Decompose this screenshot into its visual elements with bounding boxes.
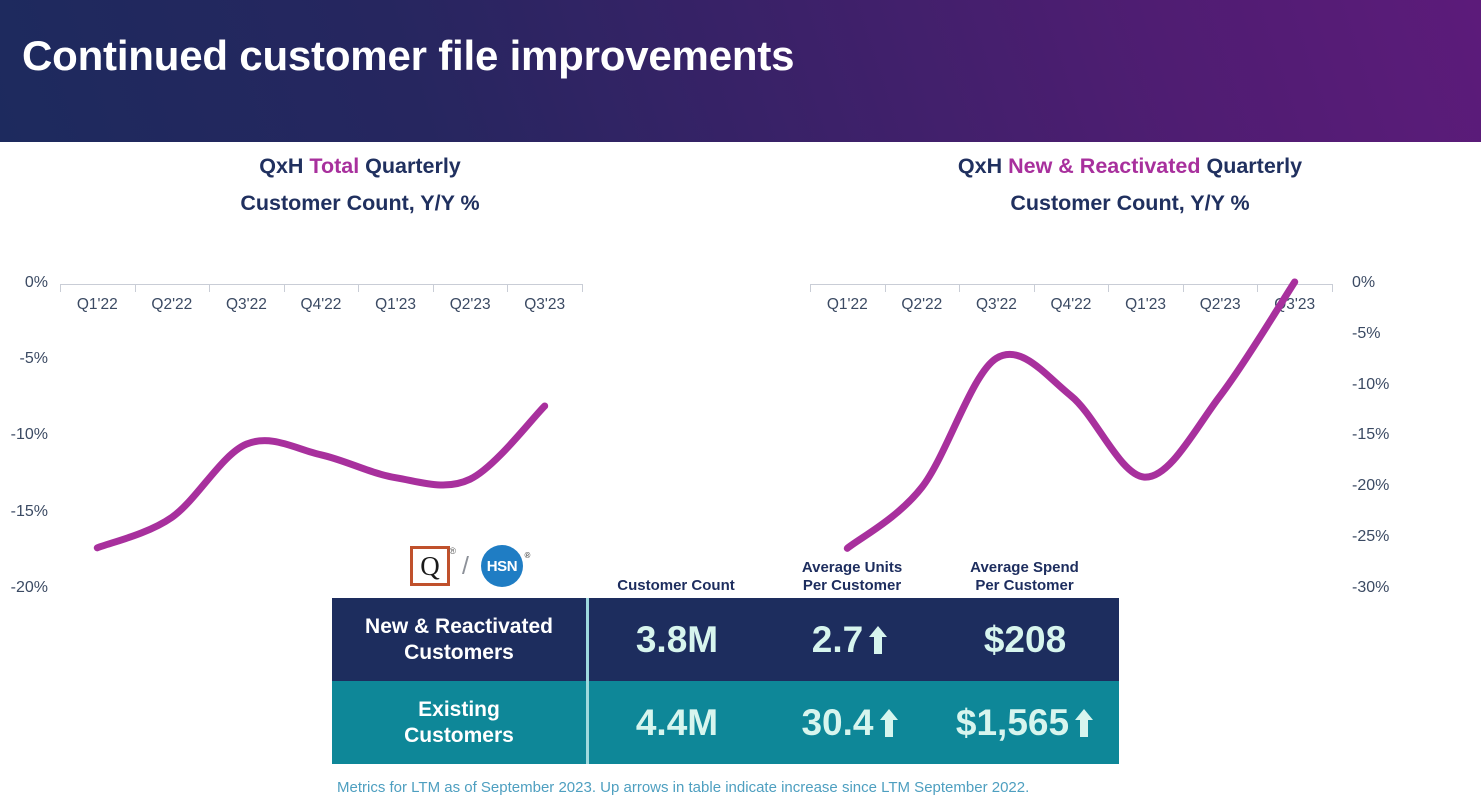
cell-existing-average-units: 30.4: [765, 702, 935, 744]
column-header-average-spend: Average Spend Per Customer: [932, 559, 1117, 597]
column-header-average-spend-line1: Average Spend: [932, 559, 1117, 578]
cell-existing-customer-count-value: 4.4M: [636, 702, 718, 744]
cell-new-customer-count-value: 3.8M: [636, 619, 718, 661]
y-axis-tick-label: -20%: [11, 579, 48, 597]
row-label-new-reactivated-line2: Customers: [365, 640, 553, 666]
chart-left-title-pre: QxH: [259, 154, 309, 178]
column-header-average-units: Average Units Per Customer: [762, 559, 942, 597]
cell-existing-average-spend: $1,565: [935, 702, 1115, 744]
chart-right-title-pre: QxH: [958, 154, 1008, 178]
cell-existing-average-spend-value: $1,565: [956, 702, 1069, 744]
cell-new-average-spend: $208: [935, 619, 1115, 661]
page-title: Continued customer file improvements: [22, 32, 794, 80]
column-header-average-spend-line2: Per Customer: [932, 577, 1117, 596]
y-axis-tick-label: -10%: [11, 426, 48, 444]
cell-existing-customer-count: 4.4M: [589, 702, 765, 744]
up-arrow-icon: [868, 625, 888, 655]
chart-right-y-axis: 0%-5%-10%-15%-20%-25%-30%: [1340, 222, 1420, 552]
cell-new-average-spend-value: $208: [984, 619, 1066, 661]
row-label-new-reactivated: New & Reactivated Customers: [332, 598, 586, 681]
y-axis-tick-label: -30%: [1352, 579, 1389, 597]
y-axis-tick-label: 0%: [25, 274, 48, 292]
y-axis-tick-label: -10%: [1352, 376, 1389, 394]
chart-left-title-post: Quarterly: [359, 154, 461, 178]
cell-existing-average-units-value: 30.4: [801, 702, 873, 744]
cell-new-customer-count: 3.8M: [589, 619, 765, 661]
chart-left-title-accent: Total: [309, 154, 359, 178]
y-axis-tick-label: -15%: [11, 503, 48, 521]
column-header-average-units-line2: Per Customer: [762, 577, 942, 596]
row-label-existing: Existing Customers: [332, 681, 586, 764]
row-existing-cells: 4.4M 30.4 $1,565: [589, 681, 1119, 764]
row-label-existing-line1: Existing: [404, 697, 514, 723]
column-header-customer-count-line1: Customer Count: [586, 577, 766, 596]
y-axis-tick-label: -5%: [1352, 325, 1380, 343]
table-row: Existing Customers 4.4M 30.4 $1,565: [332, 681, 1119, 764]
y-axis-tick-label: -25%: [1352, 528, 1389, 546]
up-arrow-icon: [1074, 708, 1094, 738]
y-axis-tick-label: 0%: [1352, 274, 1375, 292]
chart-left-plot-area: 0%-5%-10%-15%-20% Q1'22Q2'22Q3'22Q4'22Q1…: [60, 222, 700, 552]
column-header-average-units-line1: Average Units: [762, 559, 942, 578]
footnote-text: Metrics for LTM as of September 2023. Up…: [337, 779, 1029, 796]
slide-header-banner: Continued customer file improvements: [0, 0, 1481, 142]
row-label-new-reactivated-line1: New & Reactivated: [365, 614, 553, 640]
x-axis-tick: [582, 284, 583, 292]
chart-left-title-line2: Customer Count, Y/Y %: [60, 185, 660, 222]
chart-right-plot-area: 0%-5%-10%-15%-20%-25%-30% Q1'22Q2'22Q3'2…: [810, 222, 1450, 552]
column-header-customer-count: Customer Count: [586, 577, 766, 596]
chart-total-quarterly-customer-count: QxH Total Quarterly Customer Count, Y/Y …: [60, 148, 700, 552]
x-axis-tick: [1332, 284, 1333, 292]
cell-new-average-units-value: 2.7: [812, 619, 863, 661]
y-axis-tick-label: -15%: [1352, 426, 1389, 444]
row-new-cells: 3.8M 2.7 $208: [589, 598, 1119, 681]
chart-right-title-post: Quarterly: [1201, 154, 1303, 178]
up-arrow-icon: [879, 708, 899, 738]
cell-new-average-units: 2.7: [765, 619, 935, 661]
chart-new-reactivated-quarterly-customer-count: QxH New & Reactivated Quarterly Customer…: [810, 148, 1450, 552]
table-row: New & Reactivated Customers 3.8M 2.7 $20…: [332, 598, 1119, 681]
chart-right-title-line2: Customer Count, Y/Y %: [810, 185, 1450, 222]
y-axis-tick-label: -20%: [1352, 477, 1389, 495]
chart-right-title: QxH New & Reactivated Quarterly Customer…: [810, 148, 1450, 222]
table-column-headers: Customer Count Average Units Per Custome…: [332, 552, 1119, 598]
chart-left-y-axis: 0%-5%-10%-15%-20%: [0, 222, 48, 552]
chart-left-title: QxH Total Quarterly Customer Count, Y/Y …: [60, 148, 660, 222]
y-axis-tick-label: -5%: [20, 350, 48, 368]
customer-metrics-table: Customer Count Average Units Per Custome…: [332, 598, 1119, 764]
row-label-existing-line2: Customers: [404, 723, 514, 749]
chart-right-title-accent: New & Reactivated: [1008, 154, 1200, 178]
